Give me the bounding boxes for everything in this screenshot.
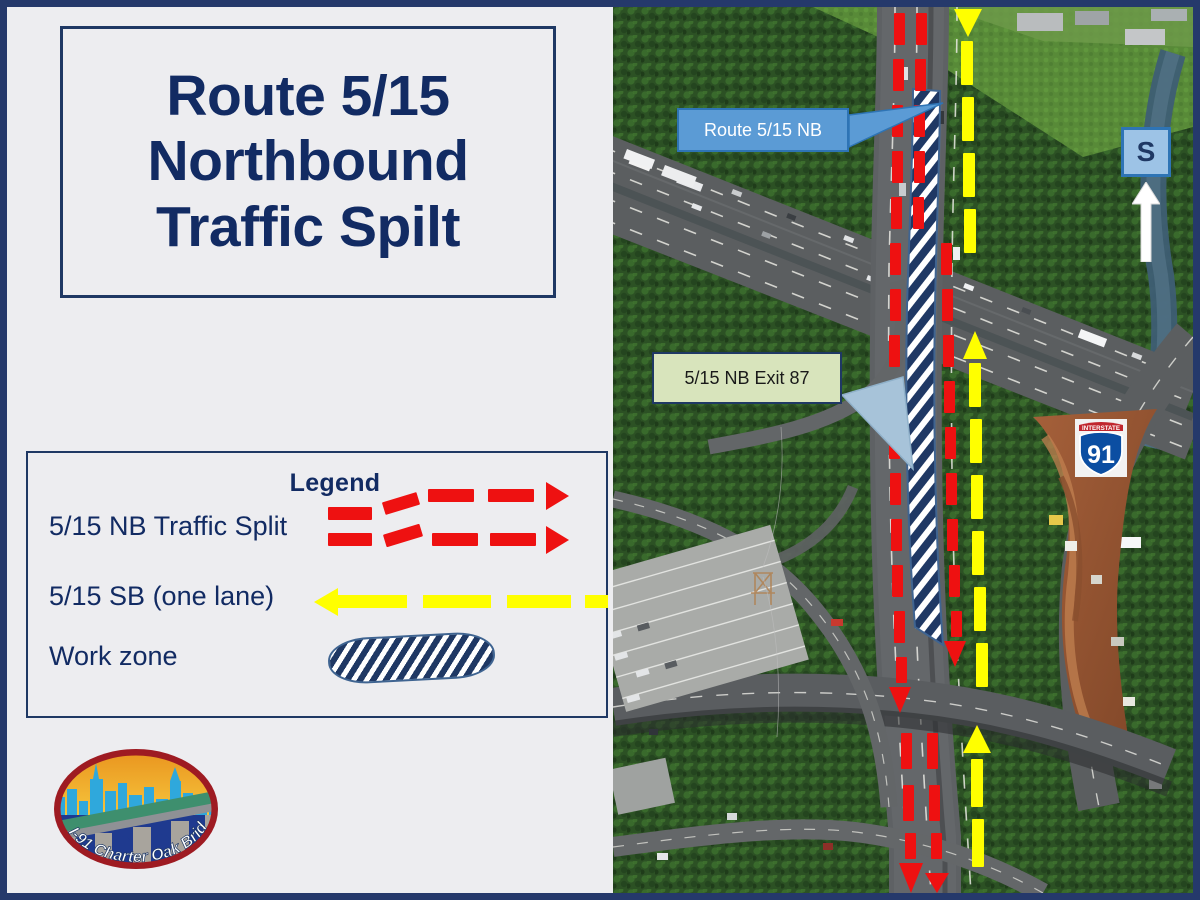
direction-marker-letter: S [1137, 136, 1156, 168]
legend-box: Legend 5/15 NB Traffic Split [26, 451, 608, 718]
shield-number-text: 91 [1087, 441, 1115, 469]
red-dashed-arrow-icon [28, 503, 606, 549]
slide-inner: Route 5/15 Northbound Traffic Spilt Lege… [7, 7, 1193, 893]
slide-canvas: Route 5/15 Northbound Traffic Spilt Lege… [0, 0, 1200, 900]
callout-exit-87[interactable]: 5/15 NB Exit 87 [652, 352, 842, 404]
charter-oak-bridge-logo: I-91 Charter Oak Bridge [47, 745, 225, 873]
callout-route-5-15-nb[interactable]: Route 5/15 NB [677, 108, 849, 152]
callout-exit-87-label: 5/15 NB Exit 87 [684, 368, 809, 389]
logo-artwork: I-91 Charter Oak Bridge [47, 745, 225, 873]
aerial-map-photo: Route 5/15 NB 5/15 NB Exit 87 S INTERSTA… [613, 7, 1193, 893]
page-title-line3: Traffic Spilt [156, 195, 460, 261]
north-arrow-icon [1132, 182, 1160, 262]
legend-item-nb-traffic-split: 5/15 NB Traffic Split [28, 503, 606, 549]
title-box: Route 5/15 Northbound Traffic Spilt [60, 26, 556, 298]
page-title-line1: Route 5/15 [166, 64, 449, 130]
direction-marker-south: S [1121, 127, 1171, 177]
yellow-dashed-arrow-icon [28, 573, 606, 619]
interstate-91-shield-icon: INTERSTATE 91 [1075, 419, 1127, 477]
callout-route-5-15-nb-label: Route 5/15 NB [704, 120, 822, 141]
page-title-line2: Northbound [147, 129, 468, 195]
shield-banner-text: INTERSTATE [1082, 425, 1120, 432]
legend-item-work-zone: Work zone [28, 633, 606, 679]
left-info-panel: Route 5/15 Northbound Traffic Spilt Lege… [7, 7, 613, 893]
legend-item-sb-one-lane: 5/15 SB (one lane) [28, 573, 606, 619]
legend-label-work-zone: Work zone [49, 633, 178, 679]
